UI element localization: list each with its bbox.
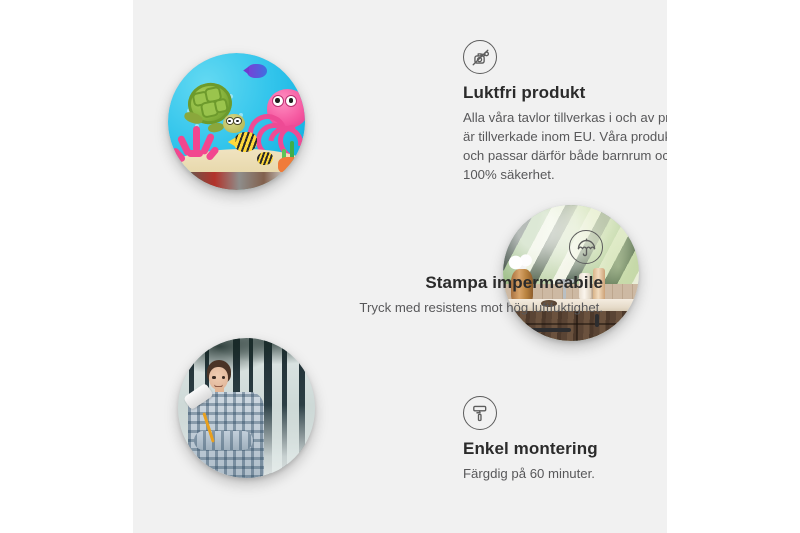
pink-coral-icon — [173, 126, 220, 173]
feature-easy-mounting: Enkel montering Färgdig på 60 minuter. — [463, 396, 667, 483]
painter-person — [186, 360, 265, 478]
feature-odour-free: Luktfri produkt Alla våra tavlor tillver… — [463, 40, 667, 185]
feature-title: Luktfri produkt — [463, 83, 667, 103]
product-feature-banner: Luktfri produkt Alla våra tavlor tillver… — [0, 0, 800, 533]
butterfly-fish-icon — [234, 132, 257, 151]
feature-title: Enkel montering — [463, 439, 667, 459]
feature-description: Färgdig på 60 minuter. — [463, 464, 667, 483]
feature-description: Tryck med resistens mot hög luftfuktighe… — [323, 298, 603, 317]
purple-fish-icon — [247, 64, 266, 78]
no-odour-perfume-bottle-icon — [463, 40, 497, 74]
feature-waterproof-print: Stampa impermeabile Tryck med resistens … — [323, 230, 603, 317]
paint-roller-icon — [463, 396, 497, 430]
feature-title: Stampa impermeabile — [323, 273, 603, 293]
octopus-icon — [253, 89, 305, 152]
forest-painter-disc — [178, 338, 315, 478]
umbrella-icon — [569, 230, 603, 264]
feature-panel: Luktfri produkt Alla våra tavlor tillver… — [133, 0, 667, 533]
underwater-cartoon-disc — [168, 53, 305, 190]
photo-bottom-strip — [168, 172, 305, 190]
starfish-icon — [278, 157, 300, 173]
feature-description: Alla våra tavlor tillverkas i och av pro… — [463, 108, 667, 185]
